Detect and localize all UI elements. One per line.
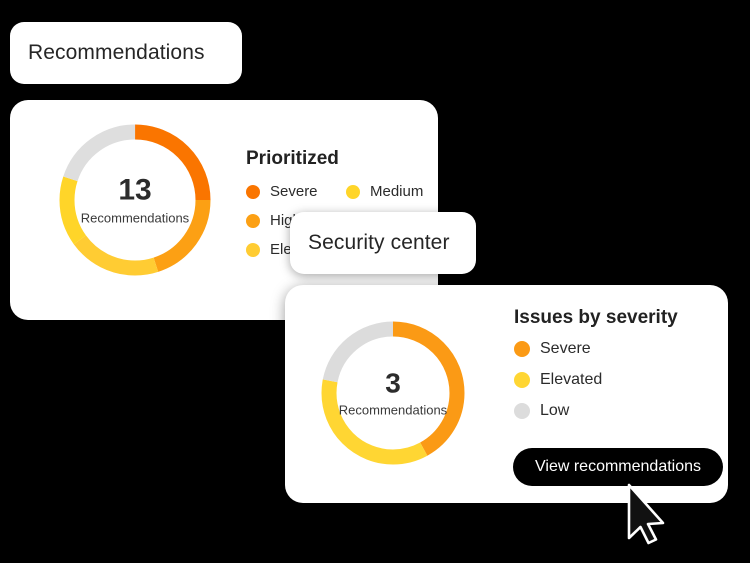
legend-label: Elevated xyxy=(540,372,602,388)
issues-donut-chart: 3 Recommendations xyxy=(313,313,473,473)
legend-label: Low xyxy=(540,403,569,419)
recommendations-chip[interactable]: Recommendations xyxy=(10,22,242,84)
medium-dot-icon xyxy=(346,185,360,199)
donut-svg-issues xyxy=(313,313,473,473)
prioritized-donut-chart: 13 Recommendations xyxy=(50,115,220,285)
severe-dot-icon xyxy=(514,341,530,357)
view-recommendations-button[interactable]: View recommendations xyxy=(513,448,723,486)
legend-item-medium[interactable]: Medium xyxy=(346,184,436,199)
issues-legend: Severe Elevated Low xyxy=(514,341,602,419)
issues-by-severity-title: Issues by severity xyxy=(514,307,678,329)
donut-svg-prioritized xyxy=(50,115,220,285)
legend-item-severe[interactable]: Severe xyxy=(246,184,346,199)
legend-item-severe[interactable]: Severe xyxy=(514,341,602,357)
recommendations-chip-label: Recommendations xyxy=(28,41,205,65)
security-center-chip[interactable]: Security center xyxy=(290,212,476,274)
legend-item-elevated[interactable]: Elevated xyxy=(514,372,602,388)
prioritized-title: Prioritized xyxy=(246,148,339,170)
elevated-dot-icon xyxy=(246,243,260,257)
screenshot-stage: 13 Recommendations Prioritized Severe Me… xyxy=(0,0,750,563)
legend-label: Severe xyxy=(540,341,591,357)
legend-label: Severe xyxy=(270,184,318,199)
high-dot-icon xyxy=(246,214,260,228)
legend-label: Medium xyxy=(370,184,423,199)
legend-item-low[interactable]: Low xyxy=(514,403,602,419)
security-center-chip-label: Security center xyxy=(308,231,450,255)
security-center-card: 3 Recommendations Issues by severity Sev… xyxy=(285,285,728,503)
severe-dot-icon xyxy=(246,185,260,199)
low-dot-icon xyxy=(514,403,530,419)
elevated-dot-icon xyxy=(514,372,530,388)
